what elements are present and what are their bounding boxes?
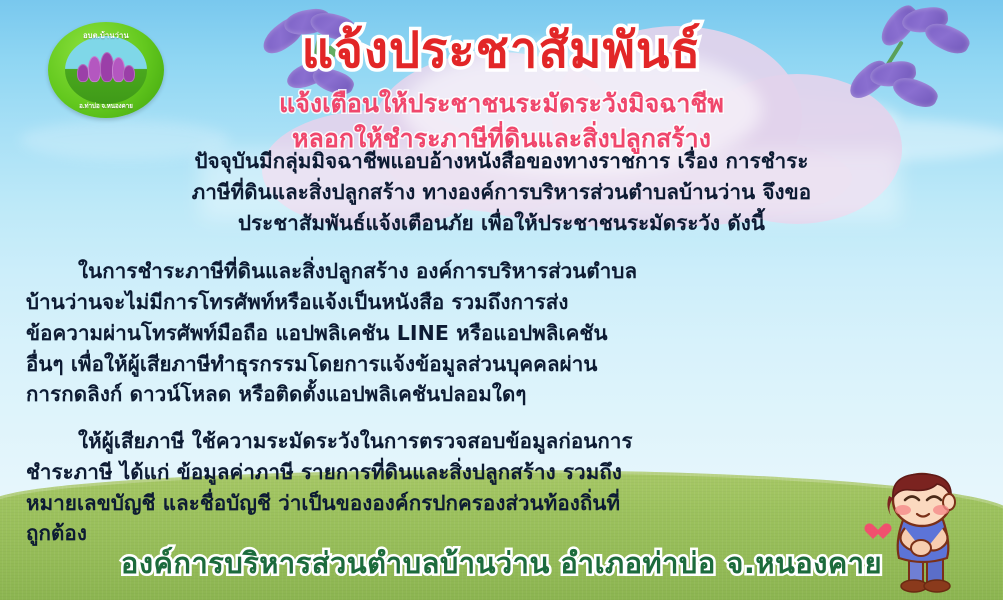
announcement-poster: อบต.บ้านว่าน อ.ท่าบ่อ จ.หนองคาย แจ้งประช… xyxy=(0,0,1003,600)
text-line: ปัจจุบันมีกลุ่มมิจฉาชีพแอบอ้างหนังสือของ… xyxy=(22,146,981,177)
text-line: ประชาสัมพันธ์แจ้งเตือนภัย เพื่อให้ประชาช… xyxy=(22,208,981,239)
text-line: การกดลิงก์ ดาวน์โหลด หรือติดตั้งแอปพลิเค… xyxy=(26,379,981,410)
text-line: ให้ผู้เสียภาษี ใช้ความระมัดระวังในการตรว… xyxy=(78,429,633,453)
poster-title: แจ้งประชาสัมพันธ์ xyxy=(0,22,1003,80)
text-line: ชำระภาษี ได้แก่ ข้อมูลค่าภาษี รายการที่ด… xyxy=(26,457,981,488)
text-line: อื่นๆ เพื่อให้ผู้เสียภาษีทำธุรกรรมโดยการ… xyxy=(26,349,981,380)
paragraph: ในการชำระภาษีที่ดินและสิ่งปลูกสร้าง องค์… xyxy=(22,256,981,410)
body-text-block: ปัจจุบันมีกลุ่มมิจฉาชีพแอบอ้างหนังสือของ… xyxy=(22,146,981,549)
paragraph: ปัจจุบันมีกลุ่มมิจฉาชีพแอบอ้างหนังสือของ… xyxy=(22,146,981,238)
text-line: ข้อความผ่านโทรศัพท์มือถือ แอปพลิเคชัน LI… xyxy=(26,318,981,349)
poster-subtitle-line-1: แจ้งเตือนให้ประชาชนระมัดระวังมิจฉาชีพ xyxy=(0,86,1003,122)
organization-footer: องค์การบริหารส่วนตำบลบ้านว่าน อำเภอท่าบ่… xyxy=(0,540,1003,586)
heart-icon xyxy=(869,524,887,540)
text-line: ภาษีที่ดินและสิ่งปลูกสร้าง ทางองค์การบริ… xyxy=(22,177,981,208)
paragraph: ให้ผู้เสียภาษี ใช้ความระมัดระวังในการตรว… xyxy=(22,426,981,549)
text-line: หมายเลขบัญชี และชื่อบัญชี ว่าเป็นขององค์… xyxy=(26,488,981,519)
heading-block: แจ้งประชาสัมพันธ์ แจ้งเตือนให้ประชาชนระม… xyxy=(0,22,1003,157)
text-line: บ้านว่านจะไม่มีการโทรศัพท์หรือแจ้งเป็นหน… xyxy=(26,287,981,318)
text-line: ในการชำระภาษีที่ดินและสิ่งปลูกสร้าง องค์… xyxy=(78,259,637,283)
